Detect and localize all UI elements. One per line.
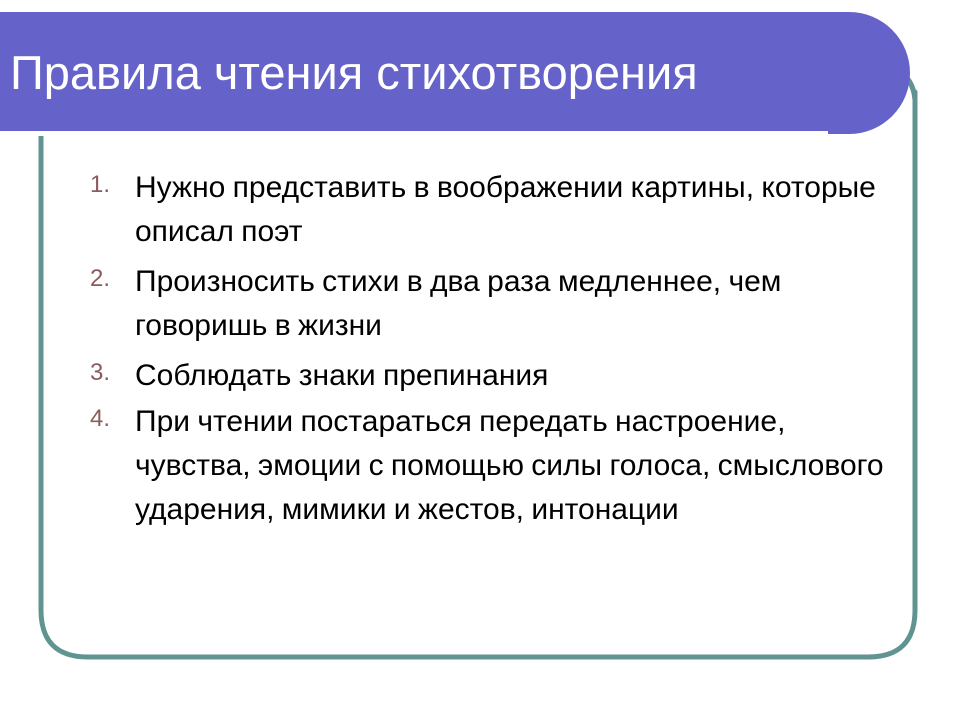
list-item-number: 2. [60,265,110,293]
list-item-text: Соблюдать знаки препинания [135,359,548,392]
list-item: 4. При чтении постараться передать настр… [0,400,900,532]
slide-canvas: Правила чтения стихотворения 1. Нужно пр… [0,0,960,720]
list-item: 1. Нужно представить в воображении карти… [0,166,900,254]
list-item: 3. Соблюдать знаки препинания [0,354,900,398]
list-item-text: Нужно представить в воображении картины,… [135,171,876,248]
list-item: 2. Произносить стихи в два раза медленне… [0,260,900,348]
numbered-list: 1. Нужно представить в воображении карти… [0,166,900,538]
list-item-number: 4. [60,405,110,433]
list-item-number: 3. [60,359,110,387]
list-item-text: Произносить стихи в два раза медленнее, … [135,265,781,342]
list-item-number: 1. [60,171,110,199]
title-underline-rule [0,131,828,136]
list-item-text: При чтении постараться передать настроен… [135,405,884,526]
page-title: Правила чтения стихотворения [10,44,870,102]
title-banner: Правила чтения стихотворения [0,12,910,134]
